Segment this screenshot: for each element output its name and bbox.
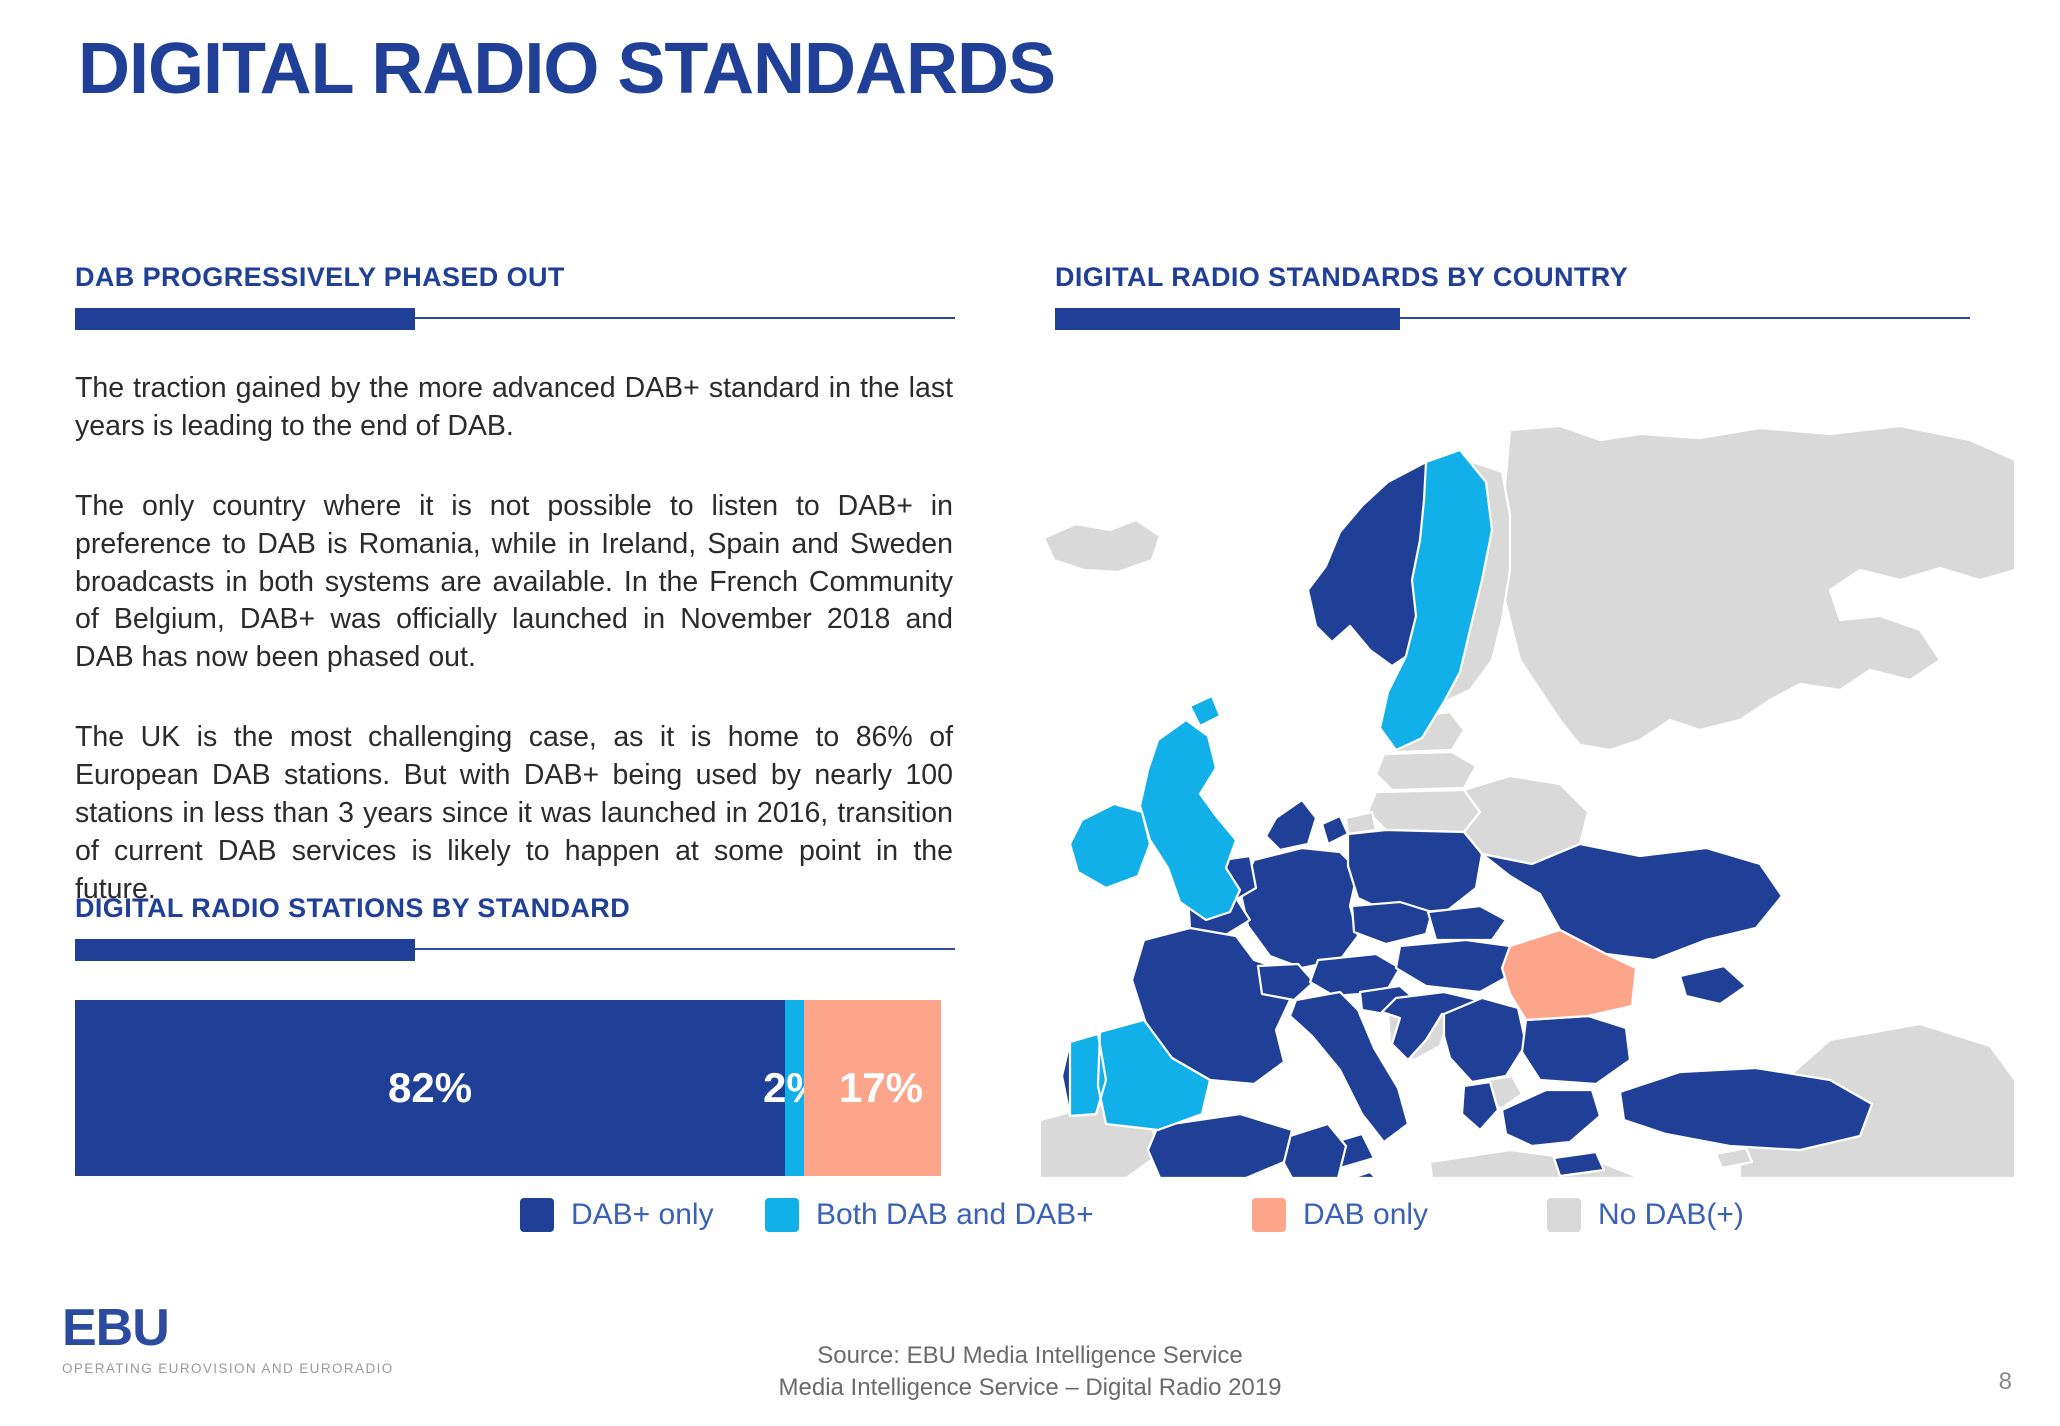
legend-label: DAB only xyxy=(1303,1198,1428,1232)
bar-segment-dab-plus-only[interactable]: 82% xyxy=(75,1000,785,1176)
country-libya[interactable] xyxy=(1430,1150,1640,1178)
legend-swatch-icon xyxy=(520,1198,554,1232)
legend-label: No DAB(+) xyxy=(1598,1198,1744,1232)
heading-rule xyxy=(75,939,955,961)
country-albania[interactable] xyxy=(1462,1082,1498,1130)
country-lithuania[interactable] xyxy=(1368,790,1480,832)
country-denmark[interactable] xyxy=(1266,800,1348,850)
section-title-standards-by-country: DIGITAL RADIO STANDARDS BY COUNTRY xyxy=(1055,262,1970,293)
left-section-header: DAB PROGRESSIVELY PHASED OUT xyxy=(75,262,955,330)
country-hungary[interactable] xyxy=(1396,940,1516,992)
country-united-kingdom[interactable] xyxy=(1140,696,1240,920)
country-poland[interactable] xyxy=(1348,830,1482,914)
country-switzerland[interactable] xyxy=(1258,964,1314,1000)
heading-rule-thick xyxy=(75,308,415,330)
country-malta[interactable] xyxy=(1352,1172,1376,1178)
paragraph-3: The UK is the most challenging case, as … xyxy=(75,719,953,908)
bar-label-dab-only: 17% xyxy=(839,1064,923,1112)
paragraph-2: The only country where it is not possibl… xyxy=(75,488,953,677)
country-czechia[interactable] xyxy=(1352,902,1432,944)
section-title-stations-by-standard: DIGITAL RADIO STATIONS BY STANDARD xyxy=(75,893,955,924)
country-germany[interactable] xyxy=(1240,848,1358,968)
country-russia[interactable] xyxy=(1500,426,2015,750)
source-line-1: Source: EBU Media Intelligence Service xyxy=(0,1340,2060,1372)
heading-rule xyxy=(75,308,955,330)
source-note: Source: EBU Media Intelligence Service M… xyxy=(0,1340,2060,1405)
bar-segment-both[interactable]: 2% xyxy=(785,1000,804,1176)
heading-rule-thick xyxy=(1055,308,1400,330)
stacked-bar-chart: 82% 2% 17% xyxy=(75,1000,941,1176)
heading-rule xyxy=(1055,308,1970,330)
left-body-text: The traction gained by the more advanced… xyxy=(75,370,953,909)
slide-root: DIGITAL RADIO STANDARDS DAB PROGRESSIVEL… xyxy=(0,0,2060,1426)
chart-legend: DAB+ only Both DAB and DAB+ DAB only No … xyxy=(520,1198,1744,1232)
country-ireland[interactable] xyxy=(1070,804,1150,888)
legend-item-no-dab[interactable]: No DAB(+) xyxy=(1547,1198,1744,1232)
bar-section-header: DIGITAL RADIO STATIONS BY STANDARD xyxy=(75,893,955,961)
legend-swatch-icon xyxy=(1252,1198,1286,1232)
page-number: 8 xyxy=(1999,1368,2012,1396)
legend-label: DAB+ only xyxy=(571,1198,714,1232)
paragraph-1: The traction gained by the more advanced… xyxy=(75,370,953,446)
legend-item-both-dab-and-dab-plus[interactable]: Both DAB and DAB+ xyxy=(765,1198,1252,1232)
source-line-2: Media Intelligence Service – Digital Rad… xyxy=(0,1372,2060,1404)
country-latvia[interactable] xyxy=(1376,752,1476,790)
legend-item-dab-only[interactable]: DAB only xyxy=(1252,1198,1547,1232)
legend-swatch-icon xyxy=(765,1198,799,1232)
country-iceland[interactable] xyxy=(1044,520,1160,572)
section-title-dab-phased-out: DAB PROGRESSIVELY PHASED OUT xyxy=(75,262,955,293)
country-bulgaria[interactable] xyxy=(1522,1016,1630,1084)
country-slovakia[interactable] xyxy=(1428,906,1506,940)
legend-swatch-icon xyxy=(1547,1198,1581,1232)
bar-segment-dab-only[interactable]: 17% xyxy=(804,1000,941,1176)
page-title: DIGITAL RADIO STANDARDS xyxy=(78,32,1055,108)
europe-choropleth-map[interactable] xyxy=(1040,420,2020,1180)
bar-label-dab-plus-only: 82% xyxy=(388,1064,472,1112)
legend-label: Both DAB and DAB+ xyxy=(816,1198,1094,1232)
heading-rule-thick xyxy=(75,939,415,961)
map-section-header: DIGITAL RADIO STANDARDS BY COUNTRY xyxy=(1055,262,1970,330)
legend-item-dab-plus-only[interactable]: DAB+ only xyxy=(520,1198,765,1232)
country-serbia[interactable] xyxy=(1444,998,1526,1082)
